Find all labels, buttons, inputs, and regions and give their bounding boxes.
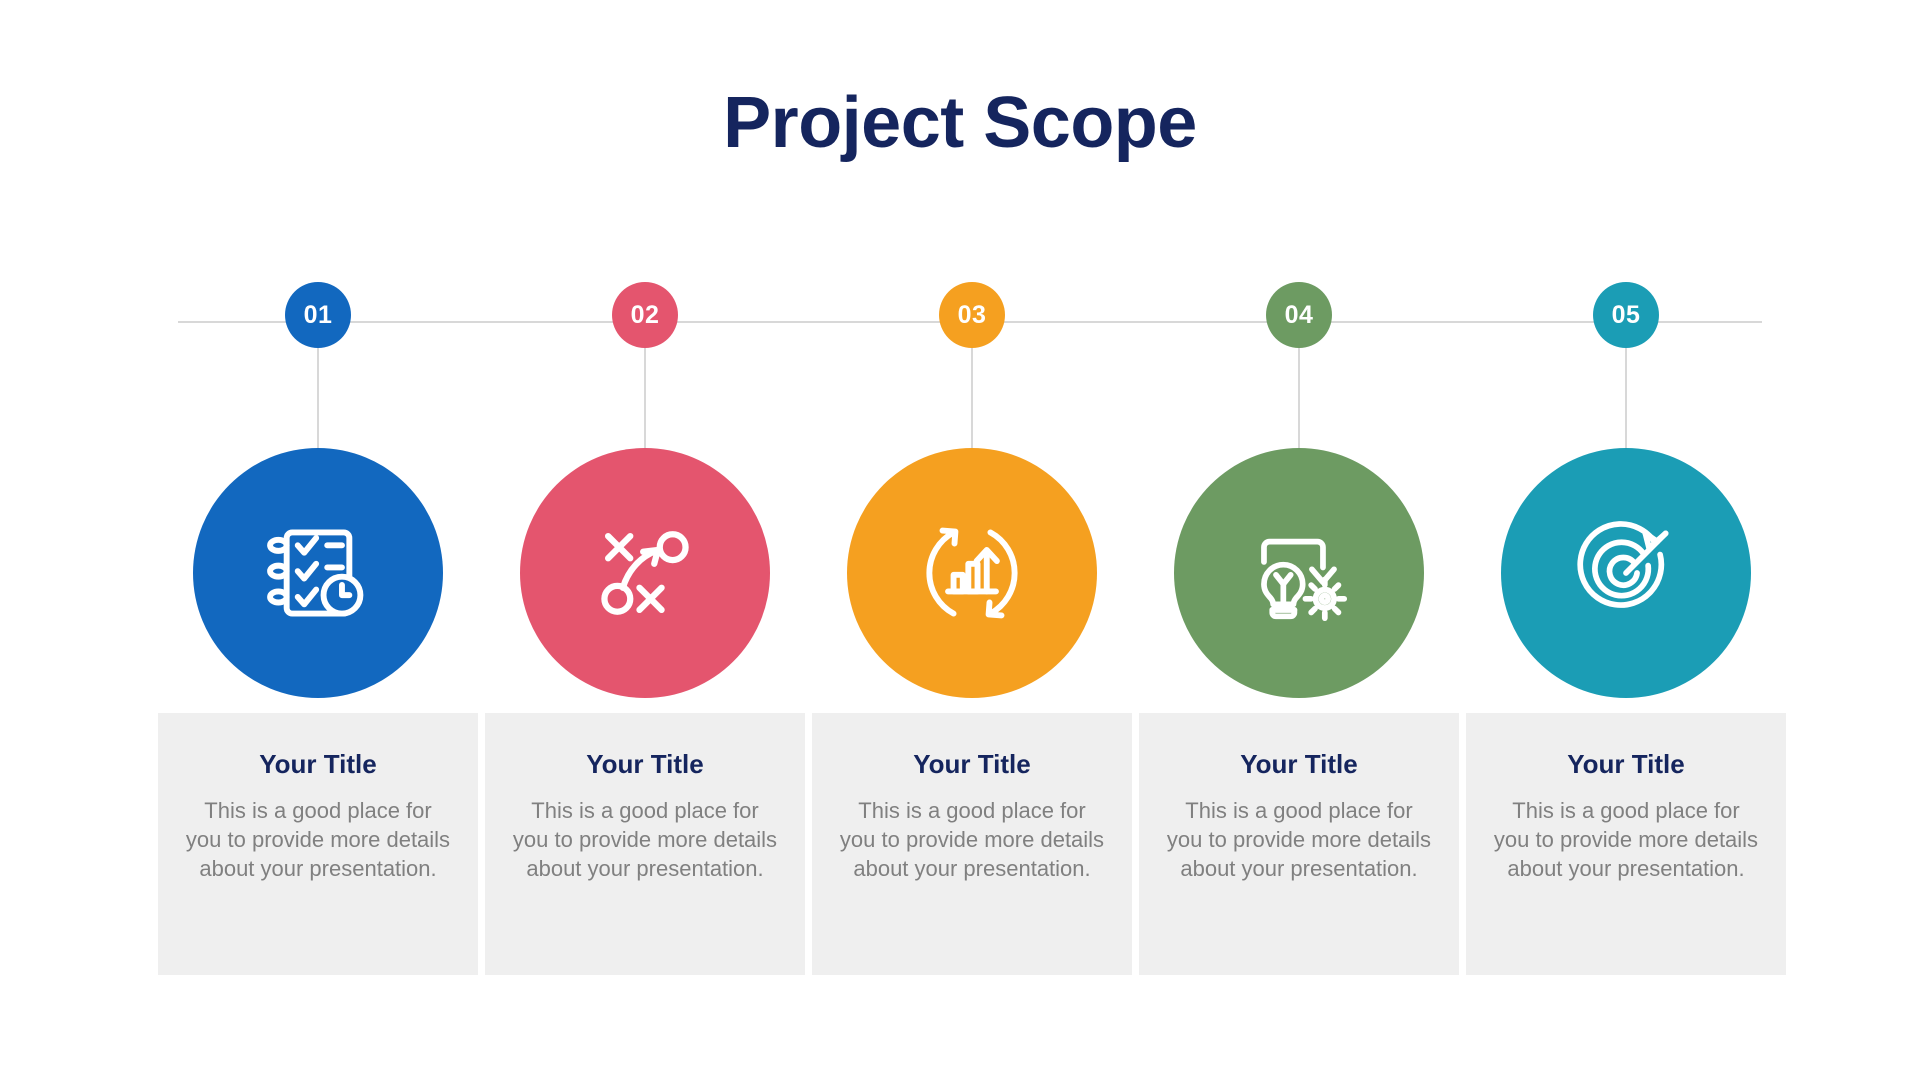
step-number-label-5: 05 [1612,301,1641,330]
step-card-body-5: This is a good place for you to provide … [1492,796,1760,883]
step-number-badge-2[interactable]: 02 [612,282,678,348]
step-number-label-2: 02 [631,301,660,330]
step-number-badge-5[interactable]: 05 [1593,282,1659,348]
step-icon-disc-1[interactable] [193,448,443,698]
step-number-label-4: 04 [1285,301,1314,330]
step-connector-line-1 [317,348,319,453]
step-card-1: Your Title This is a good place for you … [158,713,478,975]
step-card-3: Your Title This is a good place for you … [812,713,1132,975]
step-connector-line-2 [644,348,646,453]
growth-chart-refresh-icon [913,514,1031,632]
step-card-4: Your Title This is a good place for you … [1139,713,1459,975]
step-card-title-4: Your Title [1165,749,1433,780]
step-card-body-1: This is a good place for you to provide … [184,796,452,883]
page-title: Project Scope [0,86,1920,162]
step-card-title-2: Your Title [511,749,779,780]
step-connector-line-4 [1298,348,1300,453]
slide-canvas: Project Scope 01 [0,0,1920,1080]
step-connector-line-5 [1625,348,1627,453]
step-card-title-5: Your Title [1492,749,1760,780]
step-icon-disc-4[interactable] [1174,448,1424,698]
step-icon-disc-3[interactable] [847,448,1097,698]
step-number-badge-3[interactable]: 03 [939,282,1005,348]
step-number-label-1: 01 [304,301,333,330]
step-card-body-4: This is a good place for you to provide … [1165,796,1433,883]
step-card-body-2: This is a good place for you to provide … [511,796,779,883]
step-card-title-1: Your Title [184,749,452,780]
lightbulb-gear-icon [1240,514,1358,632]
step-number-badge-4[interactable]: 04 [1266,282,1332,348]
strategy-tactics-icon [586,514,704,632]
step-card-2: Your Title This is a good place for you … [485,713,805,975]
checklist-clock-icon [259,514,377,632]
step-connector-line-3 [971,348,973,453]
step-card-body-3: This is a good place for you to provide … [838,796,1106,883]
step-icon-disc-5[interactable] [1501,448,1751,698]
step-number-badge-1[interactable]: 01 [285,282,351,348]
step-card-5: Your Title This is a good place for you … [1466,713,1786,975]
target-arrow-icon [1567,514,1685,632]
step-number-label-3: 03 [958,301,987,330]
step-card-title-3: Your Title [838,749,1106,780]
step-icon-disc-2[interactable] [520,448,770,698]
